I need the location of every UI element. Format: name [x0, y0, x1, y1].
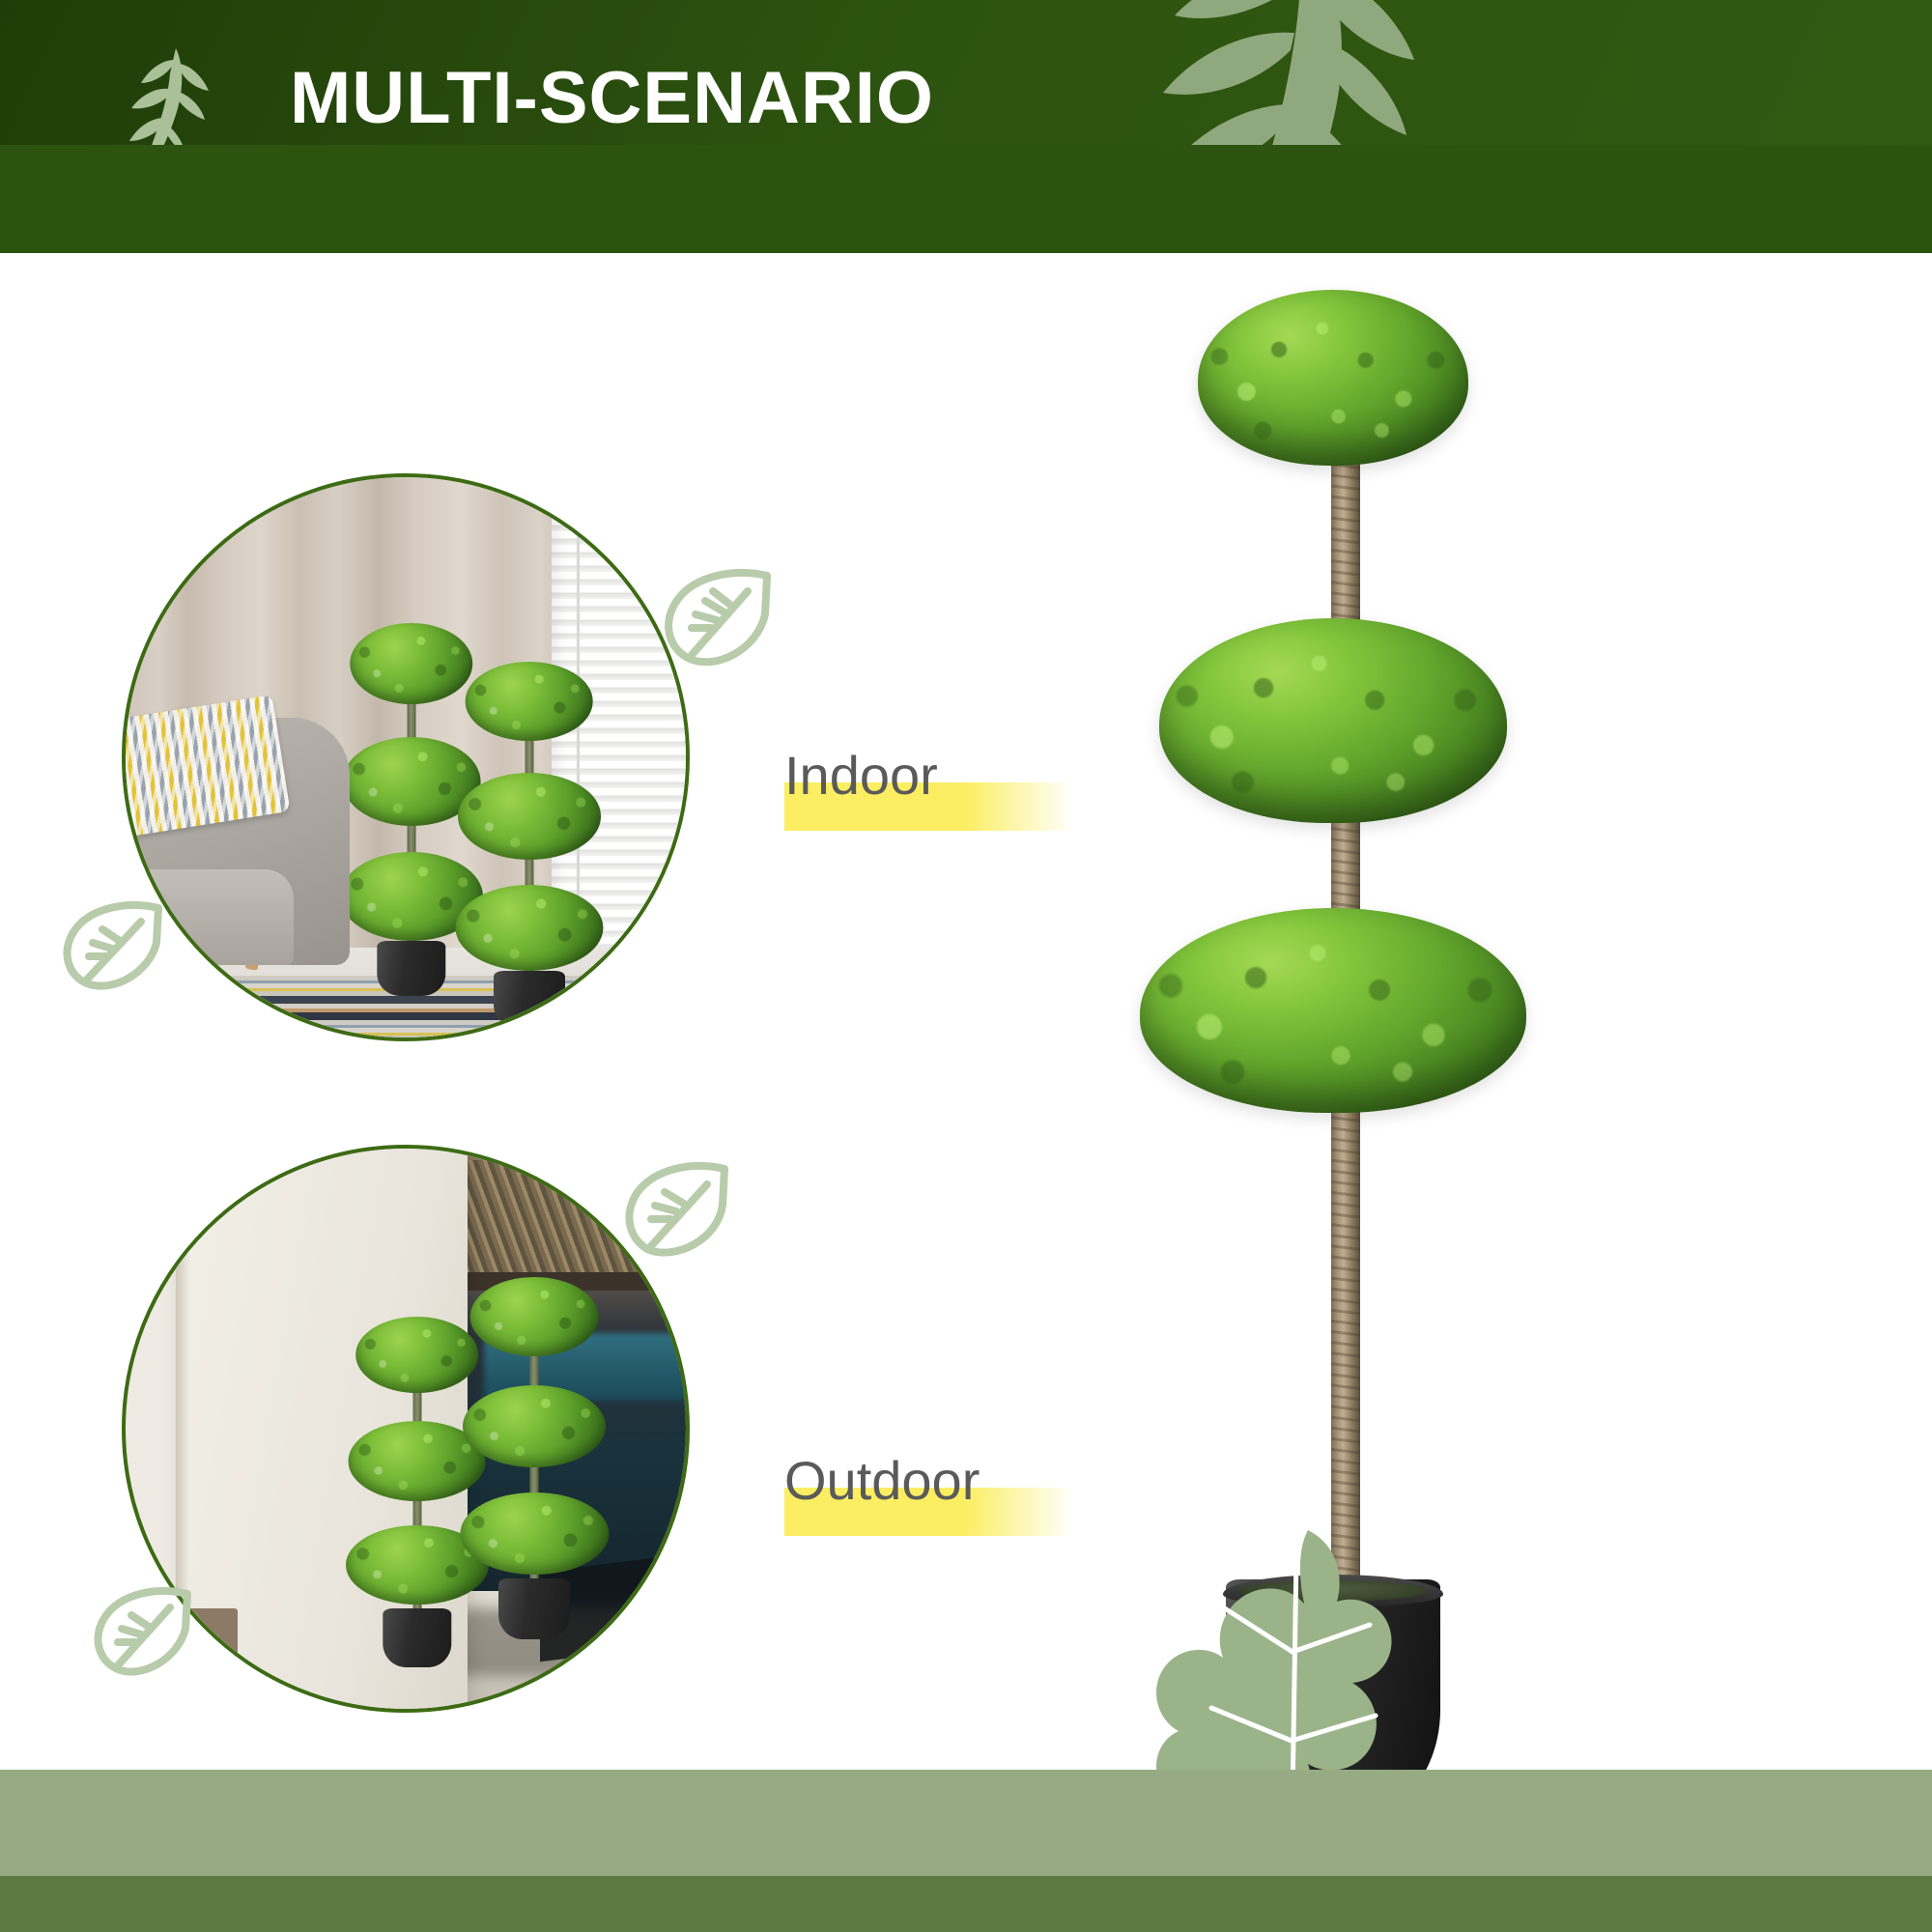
topiary-tree: [355, 1317, 479, 1664]
page-title: MULTI-SCENARIO: [290, 56, 934, 140]
topiary-ball: [465, 662, 593, 741]
scene-label-indoor: Indoor: [784, 744, 938, 807]
topiary-ball: [350, 623, 473, 704]
background-foliage: [450, 1160, 686, 1284]
monstera-leaf-icon: [116, 44, 232, 180]
footer-dark-band: [0, 1876, 1932, 1932]
topiary-ball: [463, 1385, 606, 1467]
scene-photo-outdoor: [122, 1145, 690, 1713]
scene-label-text: Indoor: [784, 744, 938, 807]
product-infographic: MULTI-SCENARIO: [0, 0, 1932, 1932]
product-image: [1082, 290, 1584, 1855]
scene-label-outdoor: Outdoor: [784, 1449, 980, 1512]
topiary-tree: [473, 1277, 597, 1635]
planter-box: [159, 1608, 238, 1659]
footer-sage-band: [0, 1770, 1932, 1876]
topiary-ball: [470, 1277, 599, 1356]
plant-pot: [377, 941, 445, 996]
topiary-ball: [458, 773, 601, 859]
plant-pot: [383, 1608, 451, 1667]
header-banner: MULTI-SCENARIO: [0, 0, 1932, 253]
outdoor-scene: [126, 1149, 686, 1709]
topiary-ball: [355, 1317, 479, 1393]
topiary-tree: [350, 623, 473, 993]
topiary-ball: [455, 885, 603, 971]
topiary-ball-bottom: [1140, 908, 1526, 1113]
scene-photo-indoor: [122, 473, 690, 1041]
topiary-tree: [468, 662, 591, 1020]
scene-label-text: Outdoor: [784, 1449, 980, 1512]
topiary-ball-middle: [1159, 618, 1507, 823]
monstera-leaf-icon: [1101, 0, 1517, 253]
indoor-scene: [126, 477, 686, 1037]
plant-pot: [494, 971, 565, 1028]
topiary-ball-top: [1198, 290, 1468, 466]
pot-soil: [1238, 1580, 1428, 1602]
armchair-arm: [122, 869, 294, 965]
plant-pot: [498, 1578, 570, 1639]
topiary-ball: [461, 1492, 609, 1575]
